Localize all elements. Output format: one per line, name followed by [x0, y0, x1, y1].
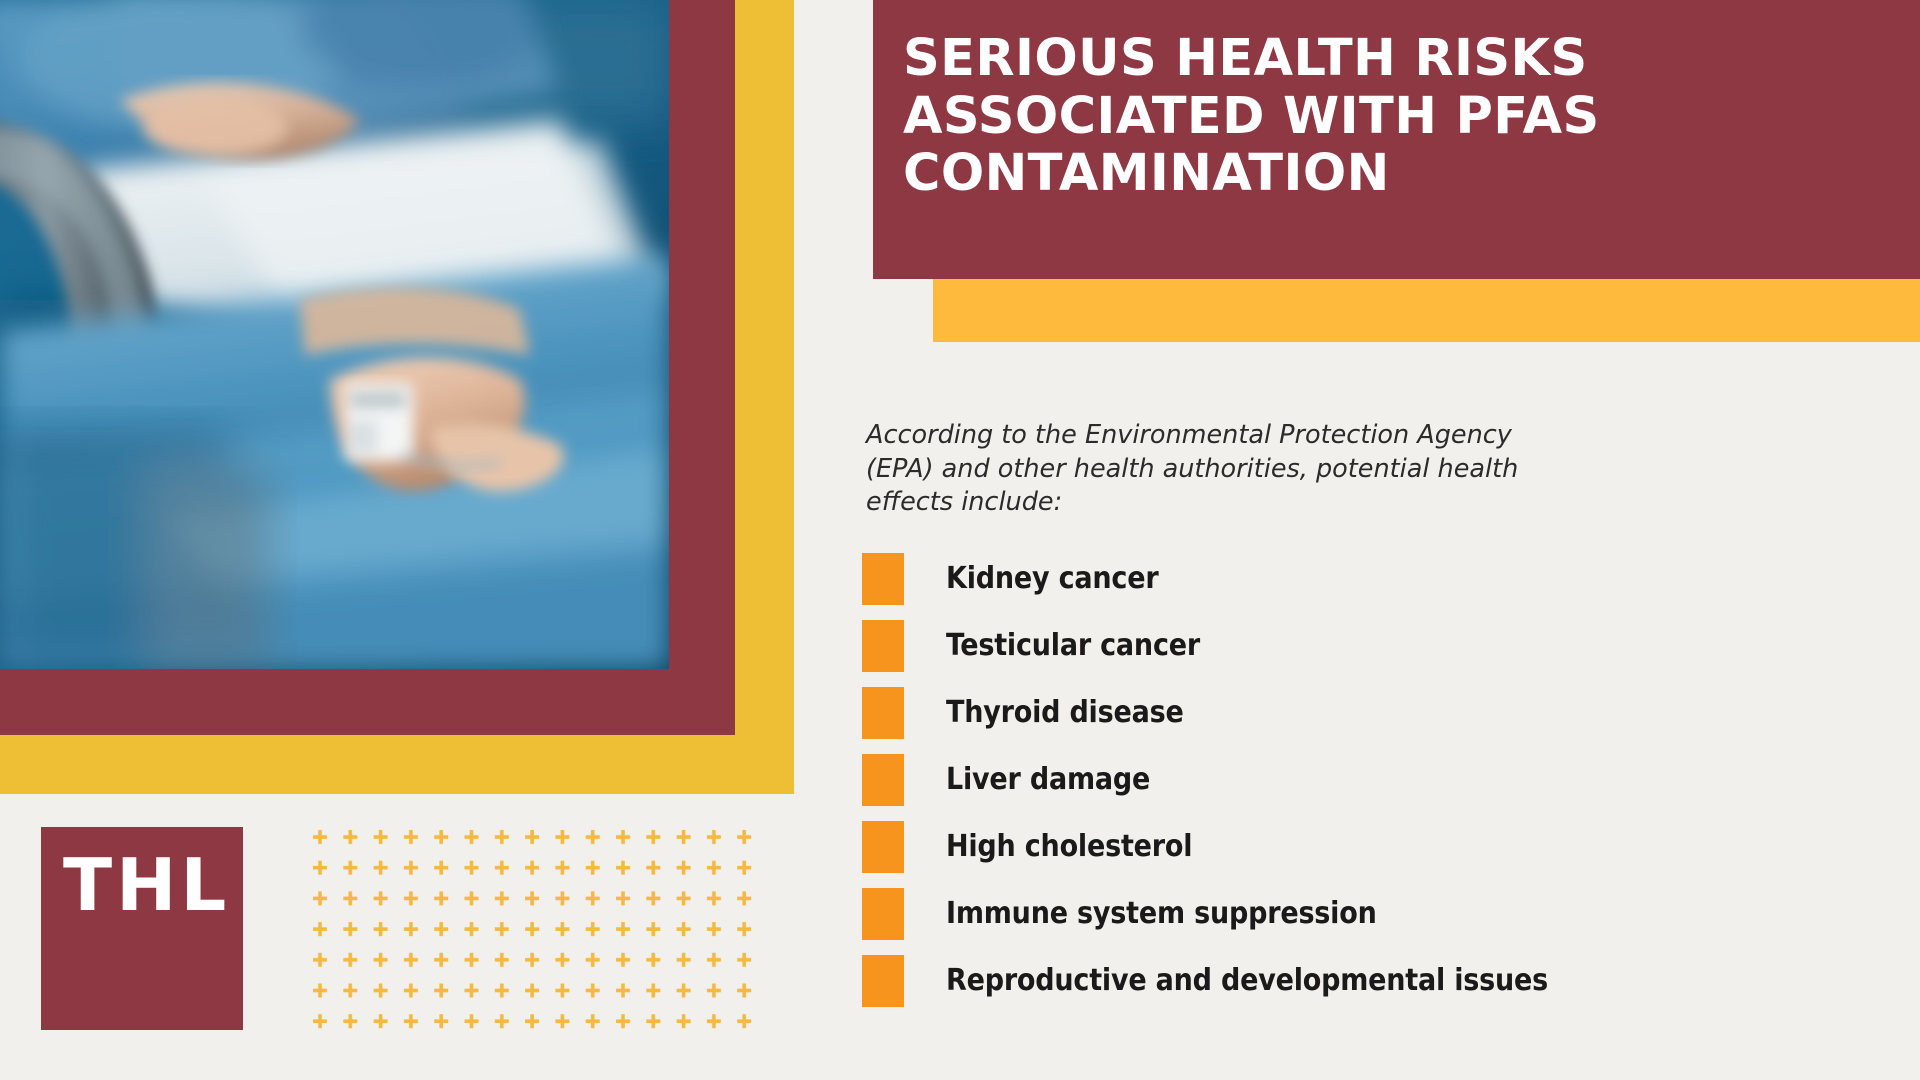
page-title: SERIOUS HEALTH RISKS ASSOCIATED WITH PFA…: [903, 30, 1904, 203]
list-item-label: Thyroid disease: [946, 695, 1184, 730]
list-item-label: Immune system suppression: [946, 896, 1377, 931]
list-item: Liver damage: [862, 746, 1872, 813]
list-item-label: Testicular cancer: [946, 628, 1200, 663]
list-item: Immune system suppression: [862, 880, 1872, 947]
logo-badge[interactable]: THL: [41, 827, 243, 1030]
plus-grid-decoration: [306, 823, 758, 1035]
bullet-square-icon: [862, 821, 904, 873]
list-item-label: High cholesterol: [946, 829, 1192, 864]
bullet-square-icon: [862, 888, 904, 940]
title-accent-bar: [933, 279, 1920, 342]
health-risks-list: Kidney cancer Testicular cancer Thyroid …: [862, 545, 1872, 1014]
hero-photo: [0, 0, 669, 669]
bullet-square-icon: [862, 620, 904, 672]
list-item: High cholesterol: [862, 813, 1872, 880]
bullet-square-icon: [862, 955, 904, 1007]
logo-text: THL: [63, 849, 230, 921]
bullet-square-icon: [862, 553, 904, 605]
list-item-label: Reproductive and developmental issues: [946, 963, 1548, 998]
list-item: Thyroid disease: [862, 679, 1872, 746]
list-item: Kidney cancer: [862, 545, 1872, 612]
list-item: Testicular cancer: [862, 612, 1872, 679]
bullet-square-icon: [862, 687, 904, 739]
bullet-square-icon: [862, 754, 904, 806]
list-item-label: Kidney cancer: [946, 561, 1158, 596]
list-item-label: Liver damage: [946, 762, 1150, 797]
title-block: SERIOUS HEALTH RISKS ASSOCIATED WITH PFA…: [873, 0, 1920, 279]
list-item: Reproductive and developmental issues: [862, 947, 1872, 1014]
intro-paragraph: According to the Environmental Protectio…: [866, 419, 1586, 520]
